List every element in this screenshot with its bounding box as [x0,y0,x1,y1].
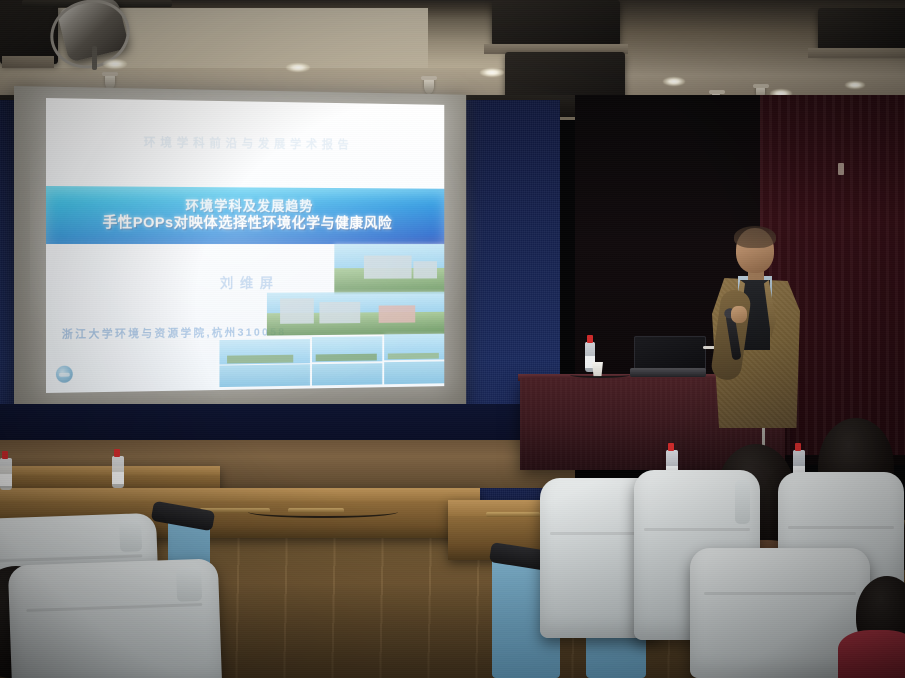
desk-cable [248,506,398,518]
presentation-slide: 环境学科前沿与发展学术报告 环境学科及发展趋势 手性POPs对映体选择性环境化学… [46,98,444,393]
seat-tab-3 [176,567,202,602]
ceiling-speaker-right [818,8,905,52]
downlight-3 [480,68,504,77]
downlight-7 [845,81,865,89]
campus-lake-photo-3 [384,334,444,385]
sprinkler-head-2 [424,78,434,94]
seat-tab-2 [735,480,750,524]
downlight-1 [103,59,127,69]
desk-bottle-2[interactable] [112,456,124,488]
slide-title-line-1: 环境学科及发展趋势 [185,198,313,216]
ceiling-speaker-center [492,0,620,46]
lecture-hall-photo: 环境学科前沿与发展学术报告 环境学科及发展趋势 手性POPs对映体选择性环境化学… [0,0,905,678]
slide-title-banner: 环境学科及发展趋势 手性POPs对映体选择性环境化学与健康风险 [46,186,444,244]
desk-bottle-1[interactable] [0,458,12,490]
spotlight-arm [92,46,97,70]
laptop-computer-base[interactable] [630,368,706,377]
campus-lake-photo-1 [219,339,310,387]
ceiling-speaker-left [0,0,58,64]
desk-cable-slot-3 [486,512,540,517]
presenter [700,228,810,428]
campus-building-photo-1 [334,244,444,294]
seat-row1-left-2[interactable] [8,558,222,678]
ceiling-speaker-right-plate [808,48,905,58]
wall-light-switch[interactable] [838,163,844,175]
presenter-hair [734,226,776,248]
presenter-hand [731,306,747,323]
seat-tab-1 [119,521,142,553]
audience-member-front-right-jacket [838,630,905,678]
slide-title-line-2: 手性POPs对映体选择性环境化学与健康风险 [103,215,393,234]
campus-building-photo-2 [267,292,444,336]
laptop-computer-lid[interactable] [634,336,706,372]
downlight-2 [286,63,310,72]
ceiling-speaker-left-plate [2,56,54,68]
slide-top-line: 环境学科前沿与发展学术报告 [46,132,444,153]
university-emblem-icon [56,366,73,383]
downlight-4 [663,77,685,86]
power-cable-podium [570,372,630,378]
campus-lake-photo-2 [312,336,382,385]
